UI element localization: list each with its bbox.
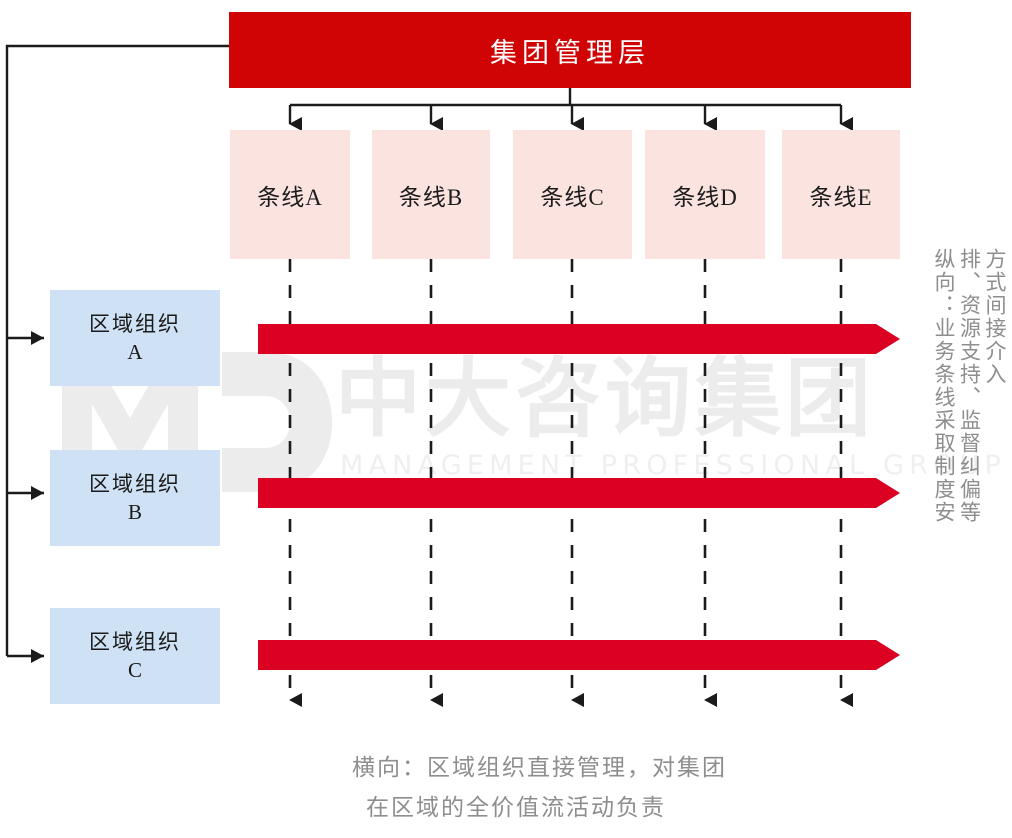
watermark-layer: 中大咨询集团 MANAGEMENT PROFESSIONAL GROUP (0, 0, 1012, 838)
bottom-caption-line-2: 在区域的全价值流活动负责 (352, 788, 727, 828)
business-line-label: 条线B (399, 178, 463, 212)
region-label: 区域组织 (89, 470, 181, 498)
vertical-caption-column: 纵向：业务条线采取制度安 (931, 248, 955, 593)
business-line-box-b[interactable]: 条线B (372, 130, 490, 259)
connector-lines-layer (0, 0, 1012, 838)
value-stream-arrow-a (258, 324, 900, 354)
business-line-label: 条线D (672, 178, 738, 212)
business-line-box-c[interactable]: 条线C (513, 130, 632, 259)
region-letter: B (128, 498, 142, 526)
business-line-label: 条线C (540, 178, 604, 212)
region-letter: C (128, 656, 142, 684)
business-line-box-d[interactable]: 条线D (645, 130, 765, 259)
header-to-lines-connector (290, 88, 841, 124)
region-box-a[interactable]: 区域组织 A (50, 290, 220, 386)
region-label: 区域组织 (89, 628, 181, 656)
business-line-box-a[interactable]: 条线A (230, 130, 350, 259)
business-line-label: 条线A (257, 178, 323, 212)
value-stream-arrow-c (258, 640, 900, 670)
watermark-english-text: MANAGEMENT PROFESSIONAL GROUP (340, 452, 1006, 479)
vertical-caption: 方式间接介入 排、资源支持、监督纠偏等 纵向：业务条线采取制度安 (931, 248, 1006, 593)
business-line-box-e[interactable]: 条线E (782, 130, 900, 259)
vertical-caption-column: 方式间接介入 (982, 248, 1006, 593)
region-label: 区域组织 (89, 310, 181, 338)
group-management-header[interactable]: 集团管理层 (229, 12, 911, 88)
header-title: 集团管理层 (490, 31, 650, 70)
bottom-caption: 横向：区域组织直接管理，对集团 在区域的全价值流活动负责 (352, 748, 727, 829)
vertical-caption-column: 排、资源支持、监督纠偏等 (957, 248, 981, 593)
region-box-c[interactable]: 区域组织 C (50, 608, 220, 704)
region-box-b[interactable]: 区域组织 B (50, 450, 220, 546)
value-stream-arrow-b (258, 478, 900, 508)
bottom-caption-line-1: 横向：区域组织直接管理，对集团 (352, 748, 727, 788)
diagram-canvas: 中大咨询集团 MANAGEMENT PROFESSIONAL GROUP (0, 0, 1012, 838)
watermark-chinese-text: 中大咨询集团 (335, 356, 875, 442)
business-line-label: 条线E (809, 178, 872, 212)
region-letter: A (127, 338, 142, 366)
